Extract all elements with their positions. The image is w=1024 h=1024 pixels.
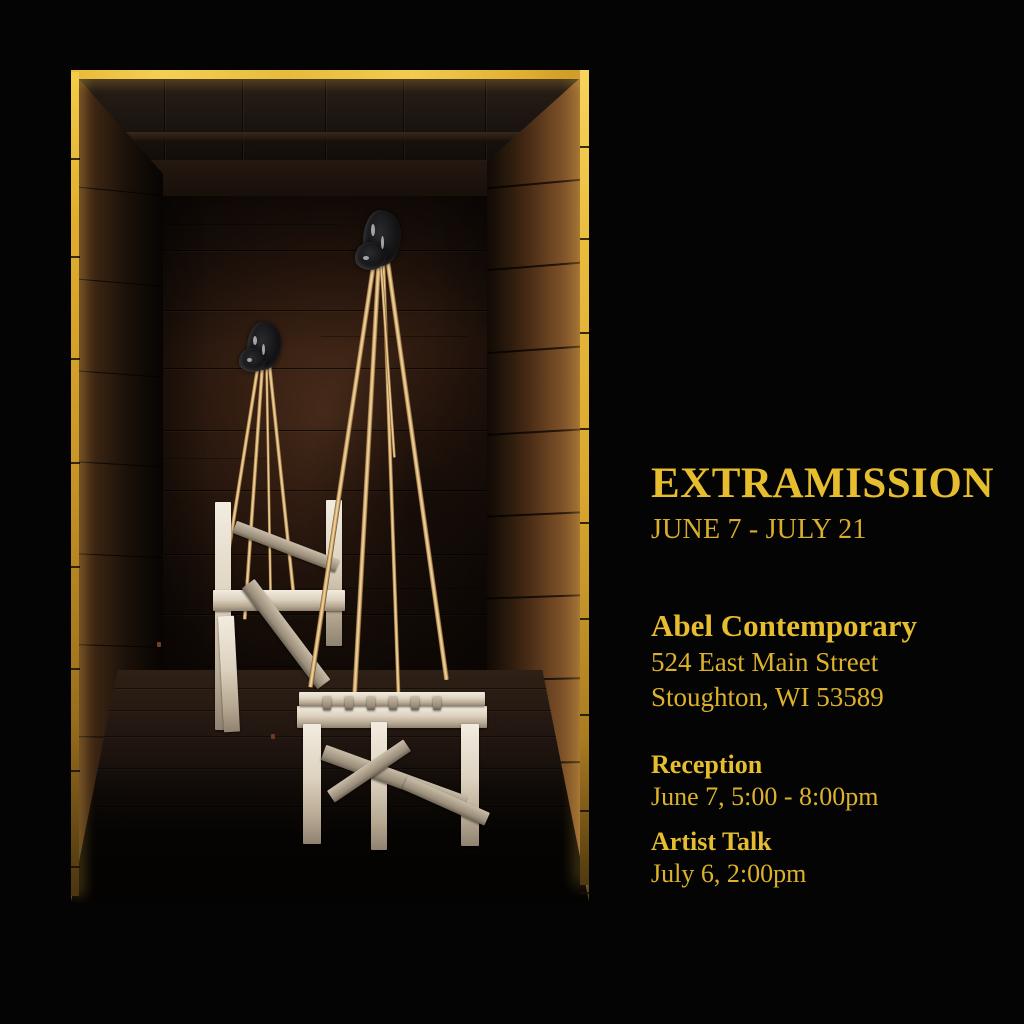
event-label-artist-talk: Artist Talk <box>651 826 1001 857</box>
venue-block: Abel Contemporary 524 East Main Street S… <box>651 609 1001 714</box>
event-label-reception: Reception <box>651 749 1001 780</box>
event-time-reception: June 7, 5:00 - 8:00pm <box>651 781 1001 813</box>
exhibition-title: EXTRAMISSION <box>651 462 1001 506</box>
frame-glow-right <box>580 70 589 885</box>
artwork-photograph <box>71 70 589 902</box>
event-time-artist-talk: July 6, 2:00pm <box>651 858 1001 890</box>
frame-glow-left <box>71 72 79 896</box>
frame-glow-top <box>71 70 589 79</box>
venue-city-state-zip: Stoughton, WI 53589 <box>651 681 1001 714</box>
poster-text-column: EXTRAMISSION JUNE 7 - JULY 21 Abel Conte… <box>651 462 1001 889</box>
venue-street: 524 East Main Street <box>651 646 1001 679</box>
exhibition-dates: JUNE 7 - JULY 21 <box>651 512 1001 547</box>
exhibition-announcement-poster: EXTRAMISSION JUNE 7 - JULY 21 Abel Conte… <box>0 0 1024 1024</box>
venue-name: Abel Contemporary <box>651 609 1001 644</box>
events-block: Reception June 7, 5:00 - 8:00pm Artist T… <box>651 749 1001 889</box>
floor-speck <box>271 734 275 739</box>
floor-speck <box>157 642 161 647</box>
